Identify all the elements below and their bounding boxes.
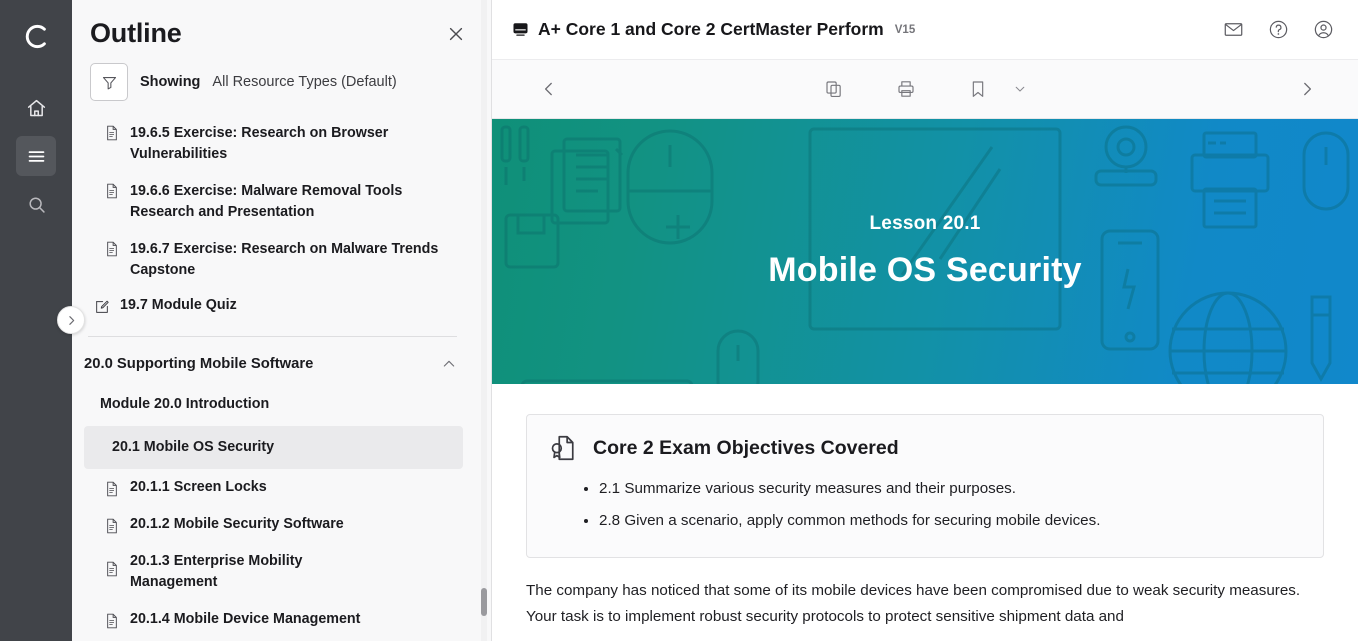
toolbar-center-actions — [820, 75, 1030, 103]
course-title: A+ Core 1 and Core 2 CertMaster Perform — [538, 19, 884, 40]
close-icon[interactable] — [443, 21, 469, 47]
list-item-label: 19.6.7 Exercise: Research on Malware Tre… — [130, 239, 457, 281]
list-item[interactable]: 19.6.7 Exercise: Research on Malware Tre… — [72, 231, 477, 289]
list-item: 2.1 Summarize various security measures … — [599, 473, 1301, 505]
list-item[interactable]: 20.1.1 Screen Locks — [72, 469, 477, 506]
document-icon — [104, 613, 120, 629]
mail-icon[interactable] — [1220, 17, 1246, 43]
filter-funnel-icon[interactable] — [90, 63, 128, 101]
list-item-label: 19.7 Module Quiz — [120, 295, 237, 316]
page-toolbar — [492, 60, 1358, 119]
document-icon — [104, 183, 120, 199]
list-item-label: 20.1.4 Mobile Device Management — [130, 609, 360, 630]
list-item-label: 20.1.1 Screen Locks — [130, 477, 267, 498]
chevron-right-icon[interactable] — [1290, 72, 1324, 106]
lesson-body: Core 2 Exam Objectives Covered 2.1 Summa… — [492, 384, 1358, 630]
document-icon — [104, 241, 120, 257]
header-actions — [1220, 17, 1336, 43]
outline-scrollbar-thumb[interactable] — [481, 588, 487, 616]
list-item-label: 20.1 Mobile OS Security — [112, 437, 274, 458]
panel-expand-handle[interactable] — [57, 306, 85, 334]
exam-objectives-title: Core 2 Exam Objectives Covered — [593, 437, 899, 460]
list-item[interactable]: 19.6.6 Exercise: Malware Removal Tools R… — [72, 173, 477, 231]
chevron-left-icon[interactable] — [532, 72, 566, 106]
outline-panel: Outline Showing All Resource Types (Defa… — [72, 0, 492, 641]
outline-group-label: 20.0 Supporting Mobile Software — [84, 356, 313, 372]
document-icon — [104, 561, 120, 577]
list-item-label: 20.1.3 Enterprise Mobility Management — [130, 551, 330, 593]
exam-objectives-list: 2.1 Summarize various security measures … — [549, 473, 1301, 537]
page-title: Outline — [90, 18, 182, 49]
list-item[interactable]: 20.1.3 Enterprise Mobility Management — [72, 543, 477, 601]
exam-objectives-header: Core 2 Exam Objectives Covered — [549, 433, 1301, 463]
version-badge: V15 — [895, 24, 915, 36]
app-header: A+ Core 1 and Core 2 CertMaster Perform … — [492, 0, 1358, 60]
bookmark-icon[interactable] — [964, 75, 992, 103]
comptia-c-logo[interactable] — [16, 16, 56, 56]
lesson-title: Mobile OS Security — [768, 251, 1081, 290]
copy-icon[interactable] — [820, 75, 848, 103]
lesson-hero-banner: Lesson 20.1 Mobile OS Security — [492, 119, 1358, 384]
list-item-label: 20.1.2 Mobile Security Software — [130, 514, 344, 535]
list-item[interactable]: 20.1.2 Mobile Security Software — [72, 506, 477, 543]
chevron-down-icon[interactable] — [1010, 79, 1030, 99]
lesson-number: Lesson 20.1 — [870, 213, 981, 235]
outline-scroll-area: 19.6.5 Exercise: Research on Browser Vul… — [72, 115, 491, 641]
list-item[interactable]: Module 20.0 Introduction — [72, 383, 477, 426]
exam-objectives-card: Core 2 Exam Objectives Covered 2.1 Summa… — [526, 414, 1324, 558]
account-icon[interactable] — [1310, 17, 1336, 43]
help-icon[interactable] — [1265, 17, 1291, 43]
list-item-label: Module 20.0 Introduction — [100, 394, 269, 415]
list-item-label: 19.6.5 Exercise: Research on Browser Vul… — [130, 123, 457, 165]
quiz-pencil-icon — [94, 299, 110, 315]
outline-tree: 19.6.5 Exercise: Research on Browser Vul… — [72, 115, 477, 638]
list-item[interactable]: 19.7 Module Quiz — [72, 289, 477, 322]
list-item-label: 19.6.6 Exercise: Malware Removal Tools R… — [130, 181, 457, 223]
filter-row: Showing All Resource Types (Default) — [72, 55, 491, 115]
main-content: A+ Core 1 and Core 2 CertMaster Perform … — [492, 0, 1358, 641]
resource-type-filter-value[interactable]: All Resource Types (Default) — [212, 74, 396, 90]
document-icon — [104, 481, 120, 497]
outline-scrollbar-track[interactable] — [481, 0, 487, 641]
document-icon — [104, 125, 120, 141]
chevron-up-icon[interactable] — [441, 356, 457, 372]
document-icon — [104, 518, 120, 534]
sidebar-item-outline[interactable] — [16, 136, 56, 176]
print-icon[interactable] — [892, 75, 920, 103]
section-divider — [88, 336, 457, 337]
showing-label: Showing — [140, 74, 200, 90]
outline-group-header[interactable]: 20.0 Supporting Mobile Software — [72, 345, 477, 383]
monitor-icon — [512, 21, 529, 38]
list-item-selected[interactable]: 20.1 Mobile OS Security — [84, 426, 463, 469]
rail-icon-list — [16, 88, 56, 224]
sidebar-item-home[interactable] — [16, 88, 56, 128]
header-left: A+ Core 1 and Core 2 CertMaster Perform … — [512, 19, 915, 40]
hero-text-block: Lesson 20.1 Mobile OS Security — [492, 119, 1358, 384]
certificate-document-icon — [549, 433, 579, 463]
sidebar-item-search[interactable] — [16, 184, 56, 224]
outline-header: Outline — [72, 0, 491, 55]
app-root: Outline Showing All Resource Types (Defa… — [0, 0, 1358, 641]
list-item[interactable]: 20.1.4 Mobile Device Management — [72, 601, 477, 638]
lesson-content: Lesson 20.1 Mobile OS Security — [492, 119, 1358, 641]
list-item[interactable]: 19.6.5 Exercise: Research on Browser Vul… — [72, 115, 477, 173]
list-item: 2.8 Given a scenario, apply common metho… — [599, 505, 1301, 537]
lesson-intro-paragraph: The company has noticed that some of its… — [526, 578, 1324, 630]
